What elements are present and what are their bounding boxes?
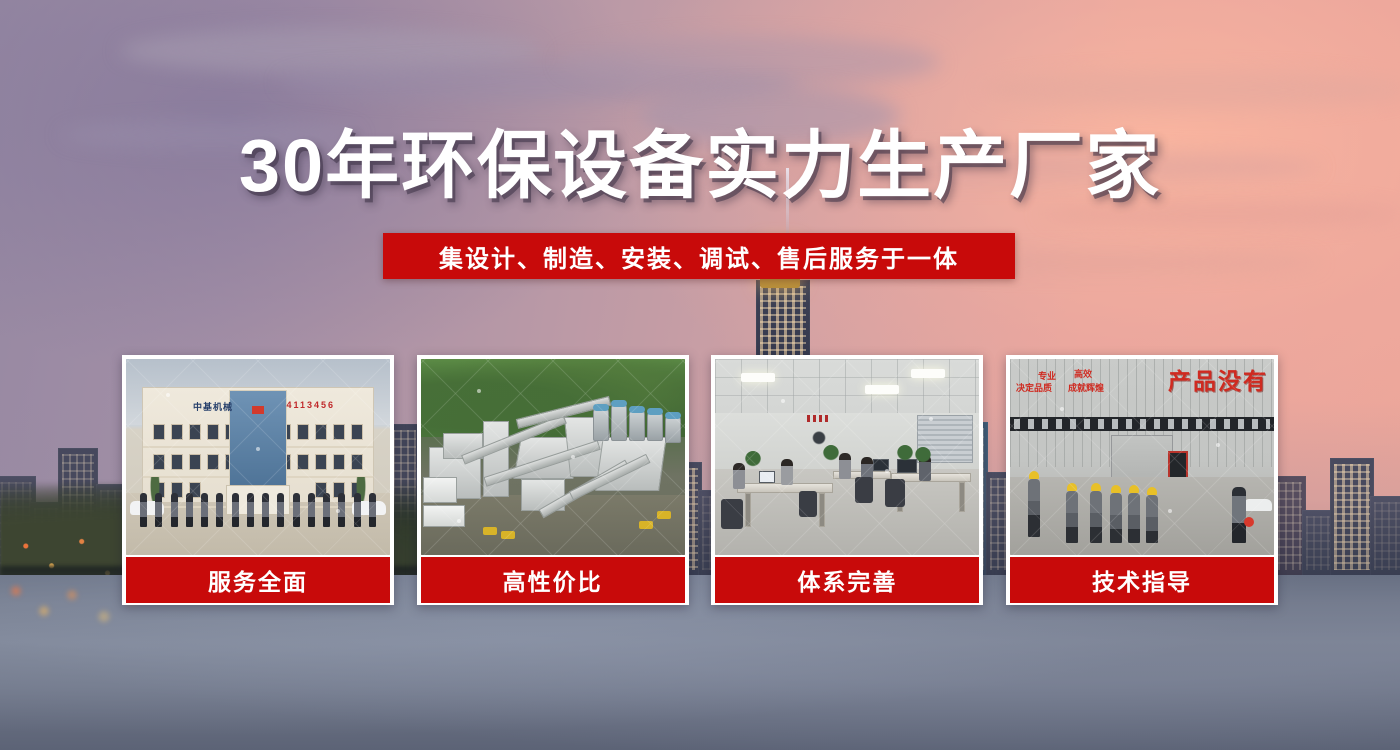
card-label-text: 体系完善	[797, 563, 897, 597]
card-label: 服务全面	[126, 557, 390, 603]
cloud	[980, 70, 1400, 110]
factory-wall-slogan-small: 专业	[1038, 369, 1056, 382]
subtitle-banner: 集设计、制造、安装、调试、售后服务于一体	[383, 233, 1015, 279]
card-label-text: 服务全面	[208, 563, 308, 597]
factory-wall-slogan: 产品没有	[1168, 362, 1268, 396]
card-label-text: 高性价比	[503, 563, 603, 597]
hero-banner: 30年环保设备实力生产厂家 集设计、制造、安装、调试、售后服务于一体	[0, 0, 1400, 750]
card-label: 高性价比	[421, 557, 685, 603]
subtitle-text: 集设计、制造、安装、调试、售后服务于一体	[439, 239, 959, 274]
factory-wall-slogan-small: 成就辉煌	[1068, 381, 1104, 394]
feature-card[interactable]: 高性价比	[417, 355, 689, 605]
card-label: 技术指导	[1010, 557, 1274, 603]
factory-wall-slogan-small: 决定品质	[1016, 381, 1052, 394]
card-photo-company-building: 中基机械 4113456	[126, 359, 390, 555]
page-title: 30年环保设备实力生产厂家	[0, 126, 1400, 206]
card-photo-office	[715, 359, 979, 555]
card-photo-factory-team: 产品没有 决定品质 专业 高效 成就辉煌	[1010, 359, 1274, 555]
feature-card[interactable]: 体系完善	[711, 355, 983, 605]
cloud	[560, 36, 940, 88]
feature-card[interactable]: 产品没有 决定品质 专业 高效 成就辉煌	[1006, 355, 1278, 605]
building-phone-number: 4113456	[286, 400, 335, 410]
card-label-text: 技术指导	[1092, 563, 1192, 597]
feature-card[interactable]: 中基机械 4113456	[122, 355, 394, 605]
card-label: 体系完善	[715, 557, 979, 603]
card-photo-aerial-plant	[421, 359, 685, 555]
factory-wall-slogan-small: 高效	[1074, 367, 1092, 380]
building-company-sign: 中基机械	[193, 400, 233, 413]
feature-card-row: 中基机械 4113456	[122, 355, 1278, 605]
